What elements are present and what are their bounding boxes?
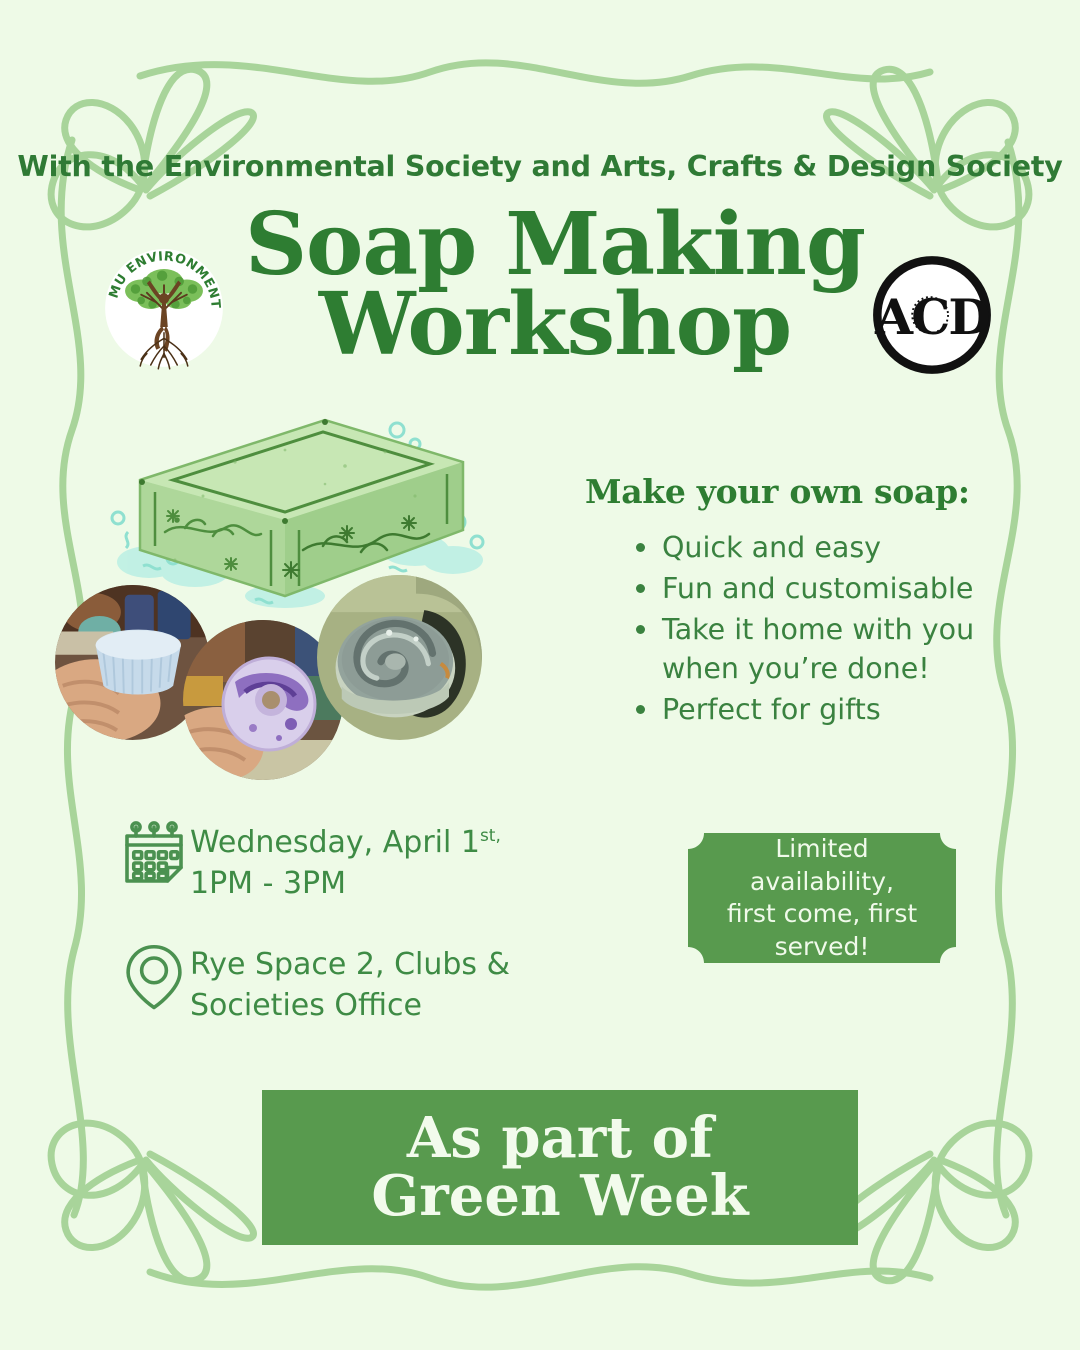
list-item: Take it home with you when you’re done! <box>630 610 1025 688</box>
acd-logo: ACD <box>866 249 998 381</box>
calendar-icon <box>118 818 190 890</box>
banner-line-1: As part of <box>371 1110 748 1167</box>
location-line-2: Societies Office <box>190 985 510 1026</box>
event-location-row: Rye Space 2, Clubs & Societies Office <box>118 940 510 1027</box>
location-pin-icon <box>118 940 190 1012</box>
date-main: Wednesday, April 1 <box>190 825 480 860</box>
photo-collage <box>55 575 515 795</box>
badge-line-2: first come, first <box>706 898 938 931</box>
banner-line-2: Green Week <box>371 1168 748 1225</box>
photo-green-swirl-soap <box>317 575 482 740</box>
event-date-text: Wednesday, April 1st, 1PM - 3PM <box>190 818 501 905</box>
green-week-banner: As part of Green Week <box>262 1090 858 1245</box>
title-line-2: Workshop <box>240 285 870 365</box>
green-week-banner-text: As part of Green Week <box>371 1110 748 1224</box>
badge-line-3: served! <box>706 931 938 964</box>
list-item: Perfect for gifts <box>630 690 1025 729</box>
location-line-1: Rye Space 2, Clubs & <box>190 944 510 985</box>
event-location-text: Rye Space 2, Clubs & Societies Office <box>190 940 510 1027</box>
event-time: 1PM - 3PM <box>190 863 501 904</box>
availability-badge-text: Limited availability, first come, first … <box>688 833 956 963</box>
benefits-list: Quick and easy Fun and customisable Take… <box>630 528 1025 731</box>
badge-line-1: Limited availability, <box>706 833 938 898</box>
poster-canvas: With the Environmental Society and Arts,… <box>0 0 1080 1350</box>
benefits-heading: Make your own soap: <box>585 472 970 511</box>
page-title: Soap Making Workshop <box>240 205 870 365</box>
mu-environmental-society-logo: MU ENVIRONMENTAL SOCIETY <box>88 232 240 384</box>
date-ordinal: st, <box>480 826 501 846</box>
list-item: Quick and easy <box>630 528 1025 567</box>
kicker-line: With the Environmental Society and Arts,… <box>0 150 1080 183</box>
availability-badge: Limited availability, first come, first … <box>688 833 956 963</box>
list-item: Fun and customisable <box>630 569 1025 608</box>
event-date-row: Wednesday, April 1st, 1PM - 3PM <box>118 818 501 905</box>
